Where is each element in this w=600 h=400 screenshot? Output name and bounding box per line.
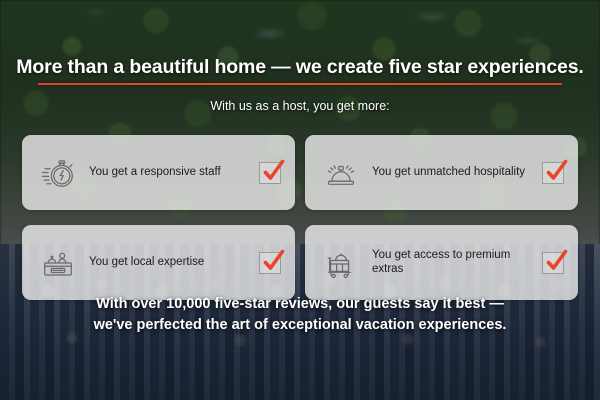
benefit-checkbox[interactable]	[259, 252, 281, 274]
page-title: More than a beautiful home — we create f…	[0, 56, 600, 79]
stopwatch-icon	[36, 151, 80, 195]
benefit-checkbox[interactable]	[542, 162, 564, 184]
benefit-checkbox[interactable]	[542, 252, 564, 274]
benefit-card-premium-extras[interactable]: You get access to premium extras	[305, 225, 578, 300]
benefit-card-responsive-staff[interactable]: You get a responsive staff	[22, 135, 295, 210]
closing-statement: With over 10,000 five-star reviews, our …	[0, 294, 600, 335]
review-count: 10,000	[166, 296, 210, 312]
benefit-card-unmatched-hospitality[interactable]: You get unmatched hospitality	[305, 135, 578, 210]
benefit-checkbox[interactable]	[259, 162, 281, 184]
closing-line-1: With over 10,000 five-star reviews, our …	[0, 294, 600, 315]
reception-desk-icon	[36, 241, 80, 285]
benefits-grid: You get a responsive staff	[22, 135, 578, 300]
headline-accent-rule	[38, 83, 562, 85]
benefit-label: You get access to premium extras	[363, 249, 542, 277]
subtitle: With us as a host, you get more:	[0, 99, 600, 113]
benefit-card-local-expertise[interactable]: You get local expertise	[22, 225, 295, 300]
marketing-slide: More than a beautiful home — we create f…	[0, 0, 600, 400]
closing-line-2: we've perfected the art of exceptional v…	[0, 315, 600, 336]
room-service-cart-icon	[319, 241, 363, 285]
closing-line-1-before: With over	[96, 296, 166, 312]
service-bell-icon	[319, 151, 363, 195]
benefit-label: You get a responsive staff	[80, 166, 259, 180]
closing-line-1-after: five-star reviews, our guests say it bes…	[210, 296, 503, 312]
benefit-label: You get local expertise	[80, 256, 259, 270]
slide-content: More than a beautiful home — we create f…	[0, 0, 600, 400]
benefit-label: You get unmatched hospitality	[363, 166, 542, 180]
